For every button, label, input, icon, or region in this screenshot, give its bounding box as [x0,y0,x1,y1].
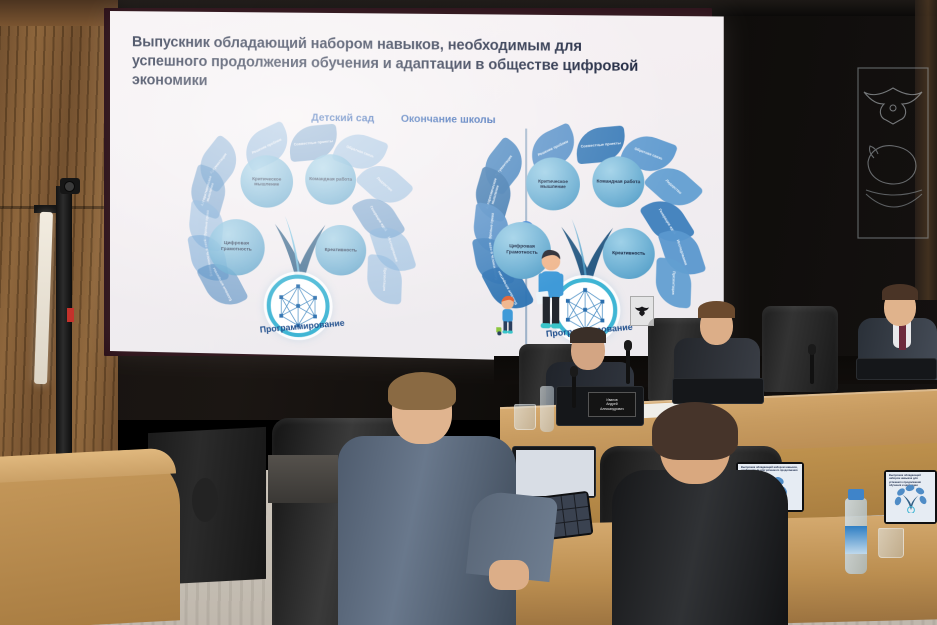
core-skill-bubble: Критическое мышление [240,155,293,208]
carafe [540,386,554,432]
video-tile [578,520,592,534]
core-skill-bubble: Цифровая Грамотность [208,219,264,276]
slide-title: Выпускник обладающий набором навыков, не… [132,33,663,97]
video-tile [561,495,575,509]
camera-indicator [67,308,74,322]
phase-label-start: Детский сад [311,113,374,125]
microphone [808,344,816,355]
monitor-right[interactable]: Выпускник обладающий набором навыков для… [884,470,937,524]
microphone [570,366,578,377]
drinking-glass [878,528,904,558]
coat-of-arms-large-icon [852,62,934,244]
nameplate-line3: Александрович [600,407,624,411]
laptop-front-left[interactable] [512,446,596,498]
camera-stand [56,186,72,466]
video-tile [564,522,578,536]
core-skill-bubble: Командная работа [592,156,644,208]
laptop-dais-right[interactable] [856,358,937,380]
speaker-driver-icon [192,478,218,522]
bottle-cap [848,489,864,500]
core-skill-bubble: Креативность [603,228,655,280]
monitor-tree-graphic [894,483,928,513]
skills-tree-kindergarten: Аргументация Решение проблем Совместные … [182,122,415,343]
laptop-dais-center[interactable] [672,378,764,404]
bottle-label [845,526,867,554]
drinking-glass [514,404,536,430]
conference-room-photo: Выпускник обладающий набором навыков, не… [0,0,937,625]
coat-of-arms-small-icon [630,296,654,326]
video-tile [576,507,590,521]
camera-lens-icon [64,181,75,192]
microphone-stem [626,348,630,384]
video-tile [563,508,577,522]
video-tile [574,493,588,507]
child-illustration-icon [496,295,519,336]
microphone-stem [572,374,576,408]
av-equipment [268,455,338,503]
wood-panel-top [0,0,118,26]
microphone-stem [810,352,814,384]
chair [762,306,838,392]
core-skill-bubble: Критическое мышление [526,157,580,211]
teen-illustration-icon [534,247,567,339]
nameplate: Иванов Андрей Александрович [588,392,636,417]
microphone [624,340,632,351]
core-skill-bubble: Креативность [315,225,366,276]
core-skill-bubble: Командная работа [305,154,356,205]
